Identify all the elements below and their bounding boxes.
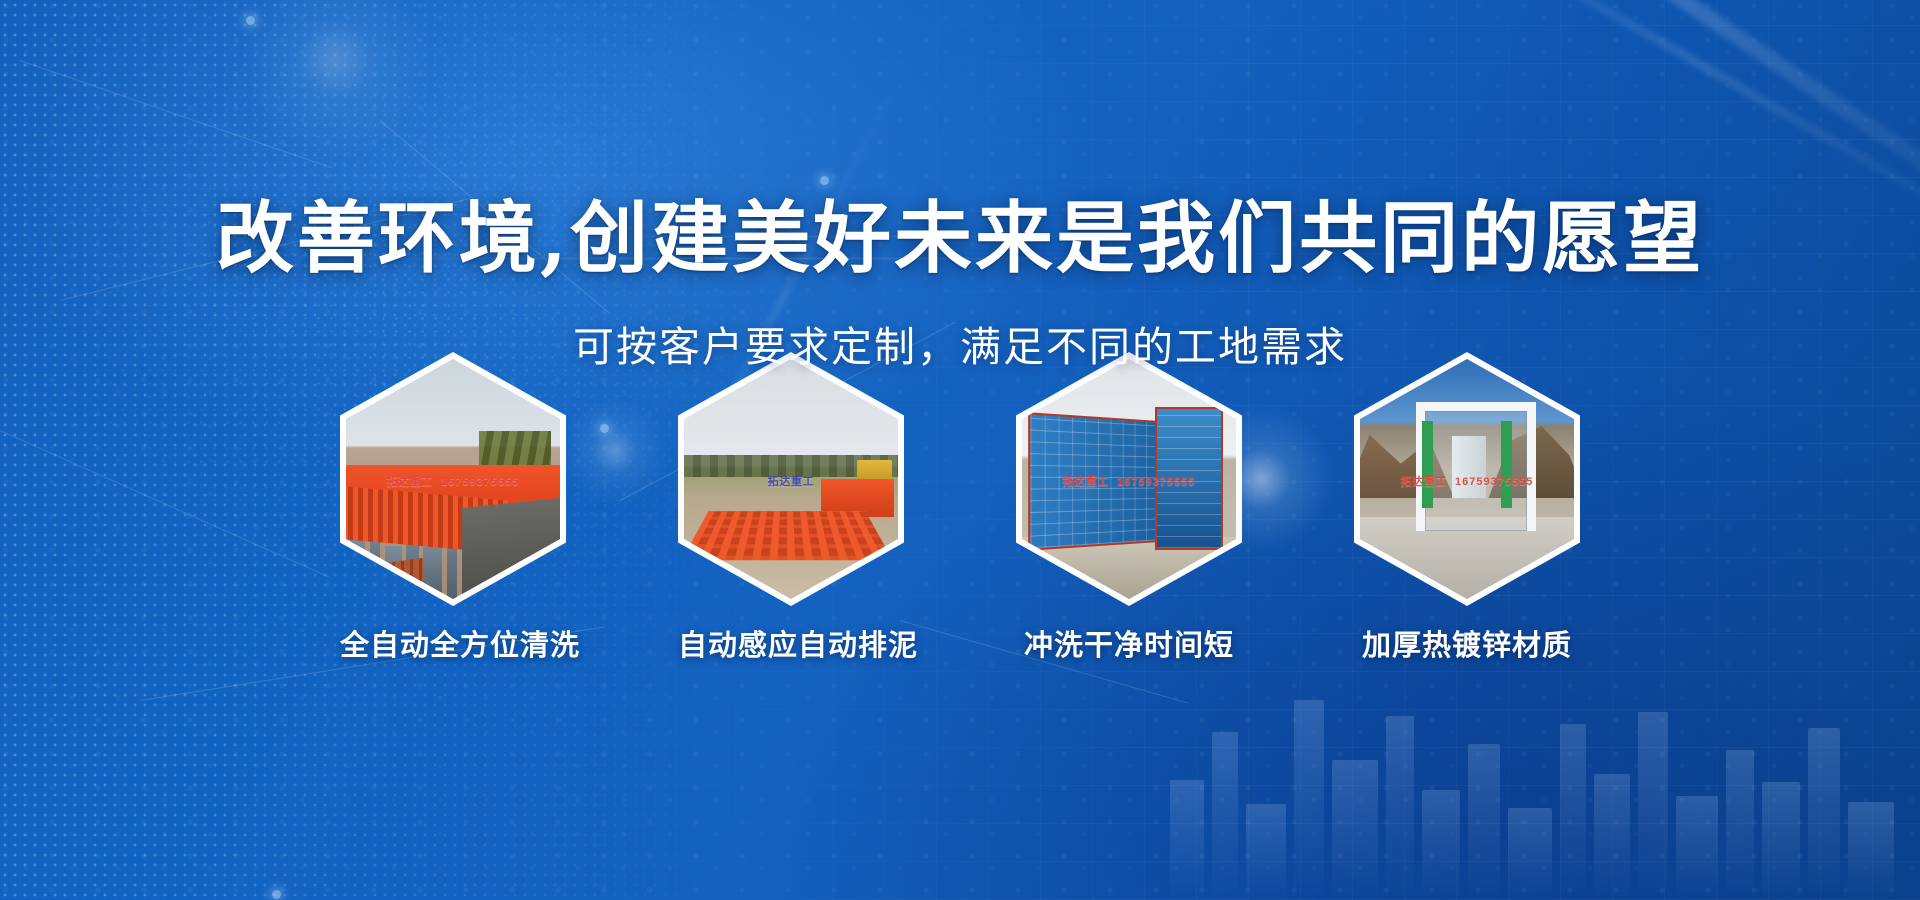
page-title: 改善环境,创建美好未来是我们共同的愿望	[216, 198, 1704, 280]
feature-label: 自动感应自动排泥	[678, 622, 904, 664]
feature-label: 冲洗干净时间短	[1016, 622, 1242, 664]
photo-watermark: 拓达重工	[684, 473, 898, 489]
photo-watermark: 拓达重工16759375555	[1022, 473, 1236, 489]
feature-label: 全自动全方位清洗	[340, 622, 566, 664]
watermark-phone: 16759375555	[441, 476, 519, 488]
subheadline-container: 可按客户要求定制，满足不同的工地需求	[0, 272, 1920, 414]
watermark-phone: 16759375555	[1455, 476, 1533, 488]
feature-label: 加厚热镀锌材质	[1354, 622, 1580, 664]
watermark-brand: 拓达重工	[1063, 476, 1109, 488]
photo-watermark: 拓达重工16759375555	[1360, 473, 1574, 489]
watermark-brand: 拓达重工	[1401, 476, 1447, 488]
photo-watermark: 拓达重工16759375555	[346, 473, 560, 489]
page-subtitle: 可按客户要求定制，满足不同的工地需求	[573, 313, 1347, 373]
watermark-brand: 拓达重工	[387, 476, 433, 488]
watermark-brand: 拓达重工	[768, 476, 814, 488]
watermark-phone: 16759375555	[1117, 476, 1195, 488]
promo-banner: 改善环境,创建美好未来是我们共同的愿望 可按客户要求定制，满足不同的工地需求	[0, 0, 1920, 900]
